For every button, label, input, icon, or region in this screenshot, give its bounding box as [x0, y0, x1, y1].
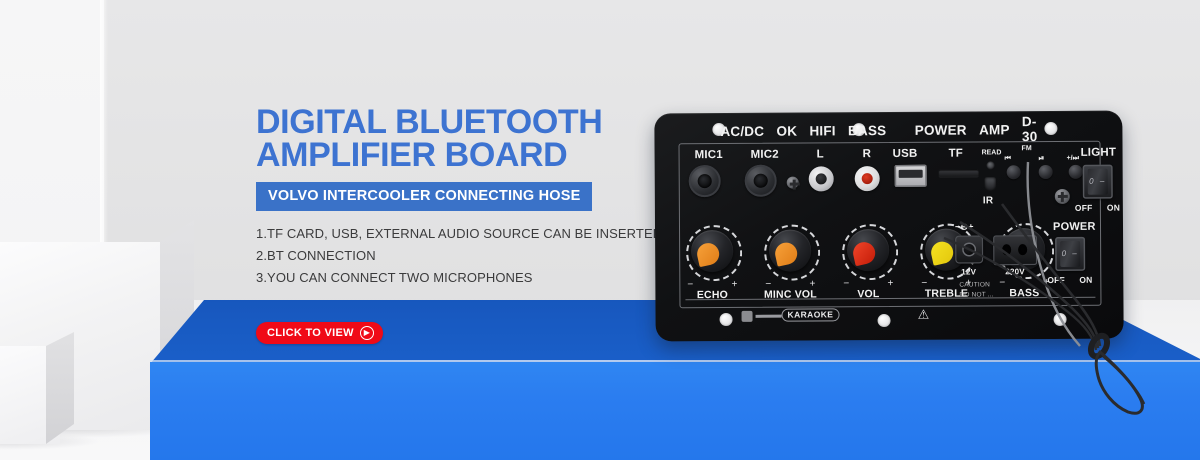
- list-item: 3.YOU CAN CONNECT TWO MICROPHONES: [256, 267, 636, 289]
- board-top-label-row: AC/DC OK HIFI BASS POWER AMP D-30: [720, 120, 1050, 140]
- power-off-label: OFF: [1047, 275, 1065, 285]
- play-pause-button[interactable]: [1039, 165, 1053, 179]
- banner-copy: DIGITAL BLUETOOTH AMPLIFIER BOARD VOLVO …: [256, 106, 636, 305]
- label-bass-top: BASS: [848, 123, 886, 138]
- connector-row: MIC1 MIC2 L R USB TF READ IR FM ⏮ ⏯ +/⏭: [687, 147, 1097, 220]
- usb-label: USB: [893, 148, 918, 160]
- label-hifi: HIFI: [809, 123, 835, 138]
- btn-prev-label: ⏮: [1005, 155, 1011, 163]
- knob-minc-vol-body[interactable]: [769, 229, 811, 271]
- rca-right-jack[interactable]: [855, 166, 880, 191]
- ac-power-socket[interactable]: [993, 235, 1037, 265]
- caution-label: CAUTION: [959, 281, 990, 288]
- platform-front-face: [150, 362, 1200, 460]
- rca-left-label: L: [817, 148, 824, 160]
- label-amp: AMP: [979, 122, 1010, 137]
- banner-stage: DIGITAL BLUETOOTH AMPLIFIER BOARD VOLVO …: [0, 0, 1200, 460]
- title-line-2: AMPLIFIER BOARD: [256, 139, 636, 172]
- power-rocker-switch[interactable]: 0 –: [1055, 237, 1085, 271]
- label-acdc: AC/DC: [720, 123, 764, 138]
- subtitle-text: VOLVO INTERCOOLER CONNECTING HOSE: [268, 188, 580, 204]
- amplifier-board: AC/DC OK HIFI BASS POWER AMP D-30 MIC1 M…: [654, 111, 1123, 342]
- label-model-d30: D-30: [1022, 114, 1051, 144]
- read-led-label: READ: [982, 149, 1002, 156]
- brand-bar-icon: [756, 315, 782, 318]
- feature-list: 1.TF CARD, USB, EXTERNAL AUDIO SOURCE CA…: [256, 223, 636, 289]
- ac-voltage-label: 220V: [1005, 267, 1025, 276]
- fm-label: FM: [1022, 145, 1032, 152]
- power-section: −⊖+ 12V 220V POWER 0 – OFF ON CAUTION DO…: [955, 221, 1106, 308]
- usb-port[interactable]: [895, 165, 927, 187]
- tf-card-slot[interactable]: [939, 169, 979, 176]
- mic1-jack[interactable]: [689, 165, 721, 197]
- list-item: 1.TF CARD, USB, EXTERNAL AUDIO SOURCE CA…: [256, 223, 636, 245]
- light-label: LIGHT: [1081, 147, 1117, 159]
- cta-label: CLICK TO VIEW: [267, 327, 354, 339]
- btn-play-label: ⏯: [1039, 155, 1045, 163]
- light-on-label: ON: [1107, 203, 1120, 213]
- list-item: 2.BT CONNECTION: [256, 245, 636, 267]
- knob-echo[interactable]: − + ECHO: [683, 225, 741, 299]
- next-track-button[interactable]: [1069, 165, 1083, 179]
- mic1-label: MIC1: [695, 149, 723, 161]
- screw-right-icon: [1055, 189, 1070, 204]
- ir-label: IR: [983, 195, 993, 206]
- play-arrow-icon: ▶: [360, 326, 374, 340]
- knob-vol-body[interactable]: [847, 229, 889, 271]
- knob-vol[interactable]: − + VOL: [839, 224, 897, 298]
- screw-hole-bottom-right: [1054, 313, 1067, 326]
- mic2-label: MIC2: [751, 149, 779, 161]
- screw-left-icon: [787, 177, 799, 189]
- karaoke-badge: KARAOKE: [782, 308, 840, 321]
- label-power-top: POWER: [915, 122, 967, 137]
- brand-square-icon: [742, 311, 753, 322]
- warning-triangle-icon: ⚠: [918, 308, 930, 321]
- read-led-icon: [987, 161, 995, 169]
- label-ok: OK: [776, 123, 797, 138]
- page-title: DIGITAL BLUETOOTH AMPLIFIER BOARD: [256, 106, 636, 172]
- power-label: POWER: [1053, 221, 1096, 233]
- mic2-jack[interactable]: [745, 165, 777, 197]
- subtitle-bar: VOLVO INTERCOOLER CONNECTING HOSE: [256, 182, 592, 211]
- box-small-side: [46, 332, 74, 444]
- rca-right-label: R: [863, 148, 872, 160]
- knob-echo-body[interactable]: [691, 230, 733, 272]
- btn-next-label: +/⏭: [1067, 155, 1079, 163]
- light-off-label: OFF: [1075, 203, 1093, 213]
- dc-power-jack[interactable]: [955, 235, 983, 263]
- power-on-label: ON: [1079, 275, 1092, 285]
- screw-hole-bottom-left: [720, 313, 733, 326]
- click-to-view-button[interactable]: CLICK TO VIEW ▶: [256, 322, 383, 344]
- tf-label: TF: [949, 148, 964, 160]
- knob-minc-vol[interactable]: − + MINC VOL: [761, 224, 819, 298]
- dc-polarity-label: −⊖+: [955, 221, 974, 232]
- ir-receiver: [985, 177, 996, 191]
- prev-track-button[interactable]: [1007, 165, 1021, 179]
- decorative-box-small: [0, 332, 110, 452]
- dc-voltage-label: 12V: [961, 267, 976, 276]
- light-rocker-switch[interactable]: 0 –: [1083, 165, 1113, 199]
- rca-left-jack[interactable]: [809, 166, 834, 191]
- screw-hole-bottom-middle: [878, 314, 891, 327]
